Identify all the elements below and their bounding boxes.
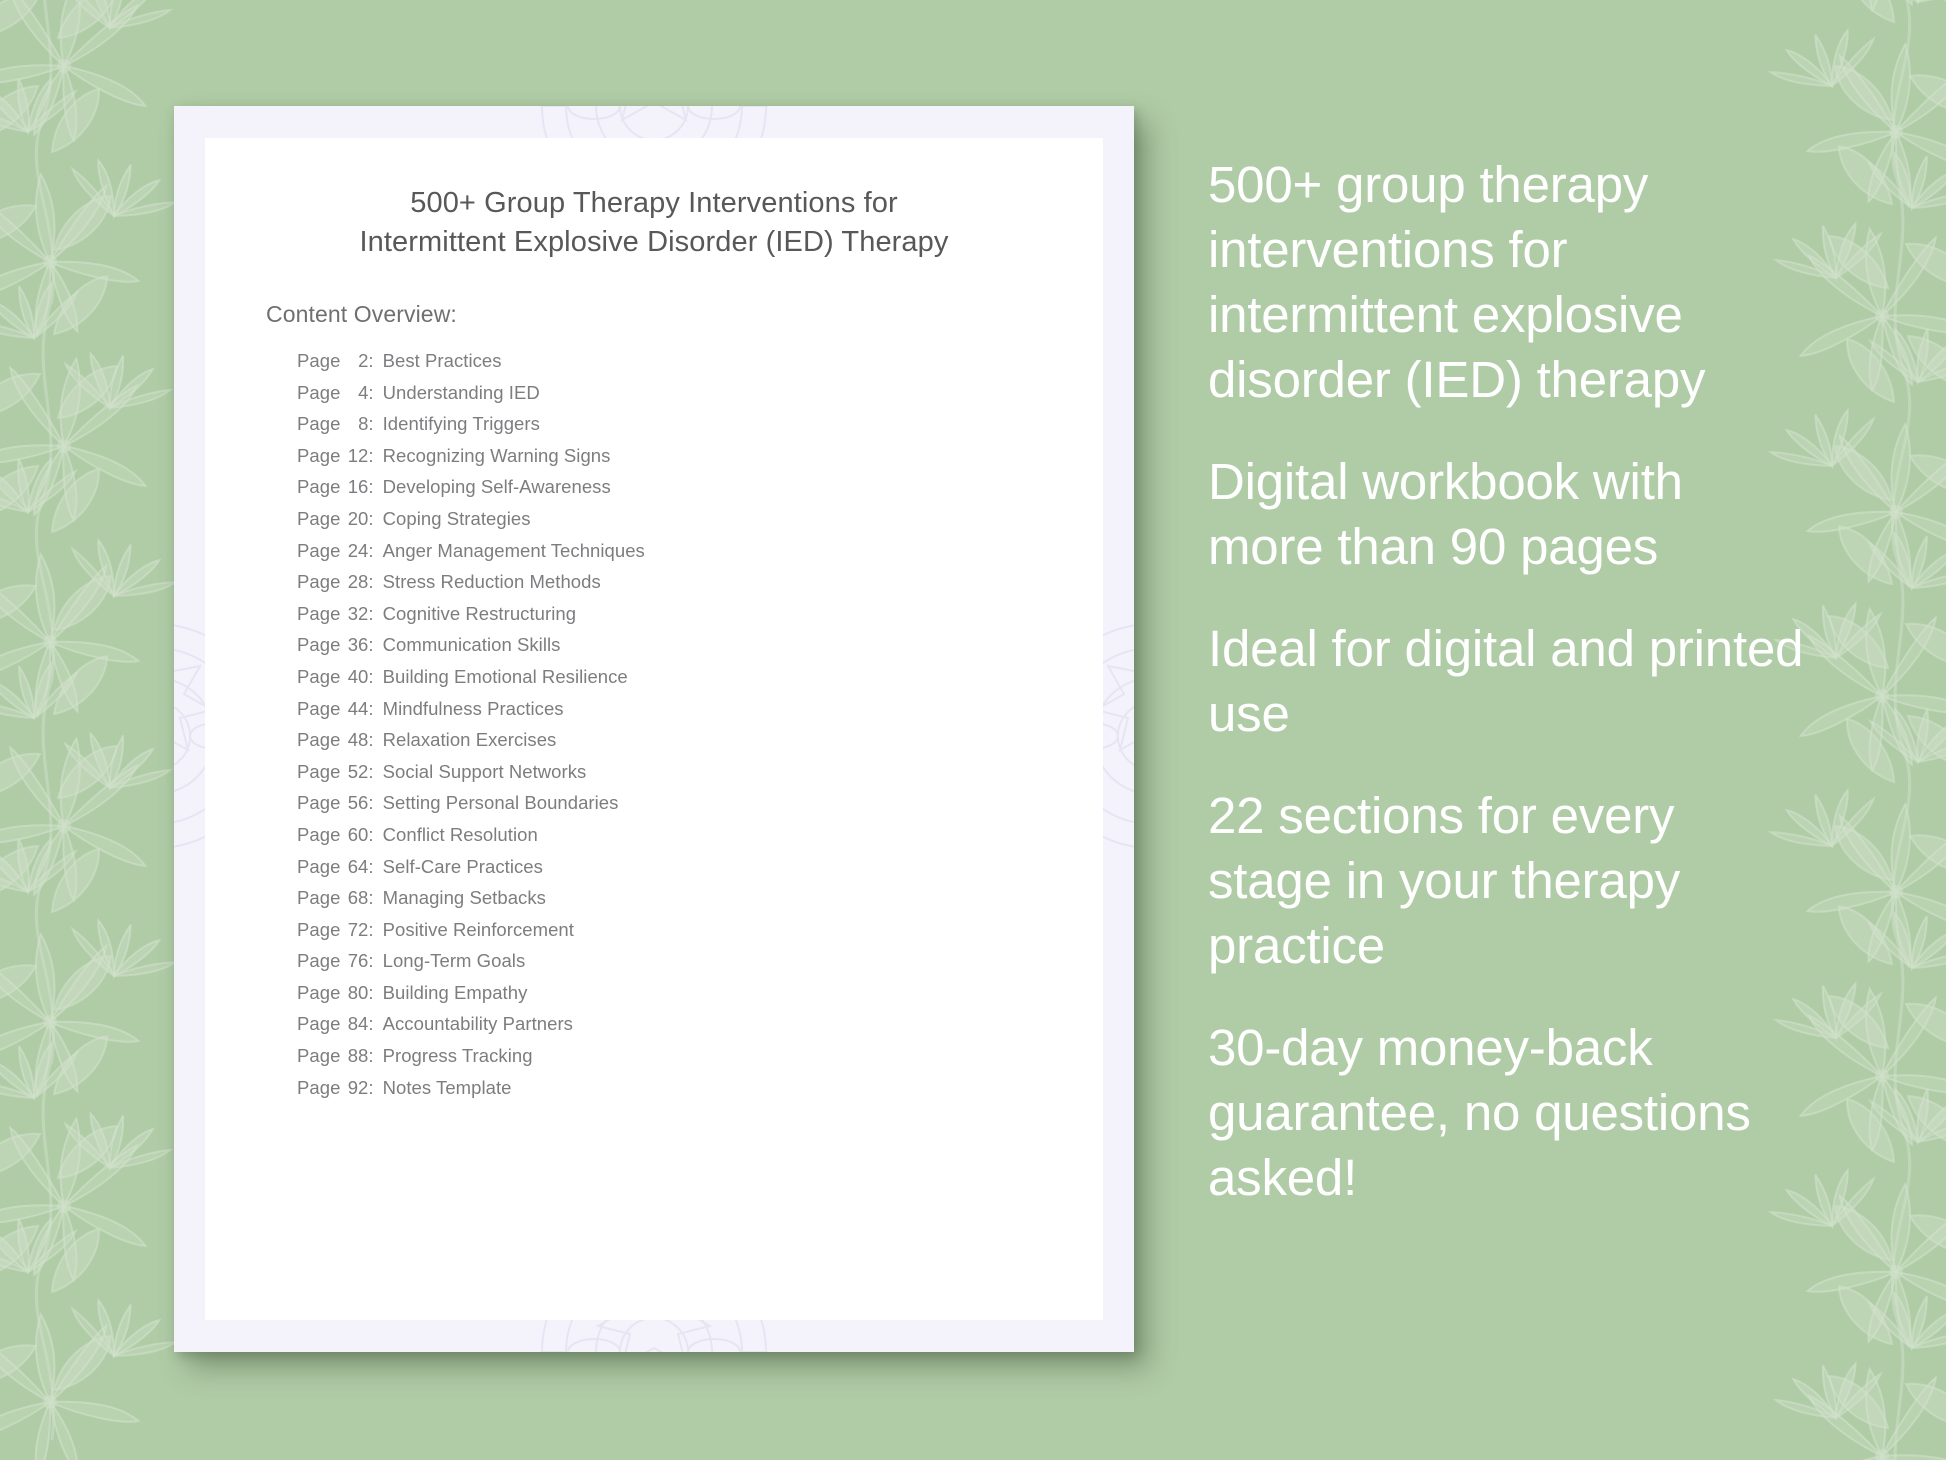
toc-page-word: Page <box>297 792 340 814</box>
workbook-page-card: 500+ Group Therapy Interventions for Int… <box>174 106 1134 1352</box>
toc-page-word: Page <box>297 982 340 1004</box>
toc-colon: : <box>368 698 373 720</box>
toc-entry[interactable]: Page 8:Identifying Triggers <box>297 413 1057 445</box>
toc-page-word: Page <box>297 729 340 751</box>
content-overview-label: Content Overview: <box>266 301 457 328</box>
toc-entry[interactable]: Page 48:Relaxation Exercises <box>297 729 1057 761</box>
marketing-point: 500+ group therapy interventions for int… <box>1208 152 1808 412</box>
toc-page-word: Page <box>297 382 340 404</box>
toc-entry[interactable]: Page 4:Understanding IED <box>297 382 1057 414</box>
toc-page-word: Page <box>297 1045 340 1067</box>
toc-section-title: Identifying Triggers <box>383 413 540 435</box>
toc-entry[interactable]: Page 44:Mindfulness Practices <box>297 698 1057 730</box>
toc-entry[interactable]: Page 36:Communication Skills <box>297 634 1057 666</box>
toc-page-word: Page <box>297 856 340 878</box>
toc-section-title: Progress Tracking <box>383 1045 533 1067</box>
toc-colon: : <box>368 982 373 1004</box>
toc-page-number: 60 <box>340 824 368 846</box>
toc-entry[interactable]: Page 16:Developing Self-Awareness <box>297 476 1057 508</box>
toc-colon: : <box>368 792 373 814</box>
toc-page-number: 72 <box>340 919 368 941</box>
toc-colon: : <box>368 350 373 372</box>
toc-page-word: Page <box>297 476 340 498</box>
toc-colon: : <box>368 824 373 846</box>
toc-page-word: Page <box>297 540 340 562</box>
toc-page-number: 2 <box>340 350 368 372</box>
toc-section-title: Understanding IED <box>383 382 540 404</box>
toc-section-title: Anger Management Techniques <box>383 540 645 562</box>
toc-section-title: Relaxation Exercises <box>383 729 557 751</box>
toc-page-number: 16 <box>340 476 368 498</box>
toc-colon: : <box>368 508 373 530</box>
toc-colon: : <box>368 382 373 404</box>
marketing-point: 30-day money-back guarantee, no question… <box>1208 1015 1808 1210</box>
toc-page-number: 12 <box>340 445 368 467</box>
toc-entry[interactable]: Page 2:Best Practices <box>297 350 1057 382</box>
toc-colon: : <box>368 445 373 467</box>
toc-entry[interactable]: Page 76:Long-Term Goals <box>297 950 1057 982</box>
toc-entry[interactable]: Page 68:Managing Setbacks <box>297 887 1057 919</box>
toc-page-word: Page <box>297 950 340 972</box>
toc-entry[interactable]: Page 64:Self-Care Practices <box>297 856 1057 888</box>
toc-section-title: Accountability Partners <box>383 1013 573 1035</box>
toc-entry[interactable]: Page 72:Positive Reinforcement <box>297 919 1057 951</box>
toc-colon: : <box>368 856 373 878</box>
toc-page-number: 52 <box>340 761 368 783</box>
toc-colon: : <box>368 729 373 751</box>
toc-page-number: 48 <box>340 729 368 751</box>
toc-colon: : <box>368 634 373 656</box>
toc-page-word: Page <box>297 634 340 656</box>
toc-page-number: 84 <box>340 1013 368 1035</box>
toc-section-title: Setting Personal Boundaries <box>383 792 619 814</box>
toc-section-title: Best Practices <box>383 350 502 372</box>
toc-section-title: Notes Template <box>383 1077 512 1099</box>
toc-colon: : <box>368 1013 373 1035</box>
toc-entry[interactable]: Page 28:Stress Reduction Methods <box>297 571 1057 603</box>
toc-page-number: 28 <box>340 571 368 593</box>
marketing-point: Digital workbook with more than 90 pages <box>1208 449 1808 579</box>
workbook-sheet: 500+ Group Therapy Interventions for Int… <box>205 138 1103 1320</box>
toc-page-number: 32 <box>340 603 368 625</box>
toc-page-number: 4 <box>340 382 368 404</box>
toc-section-title: Stress Reduction Methods <box>383 571 601 593</box>
toc-page-number: 44 <box>340 698 368 720</box>
toc-section-title: Mindfulness Practices <box>383 698 564 720</box>
toc-section-title: Managing Setbacks <box>383 887 546 909</box>
toc-section-title: Self-Care Practices <box>383 856 543 878</box>
toc-colon: : <box>368 1077 373 1099</box>
marketing-point: 22 sections for every stage in your ther… <box>1208 783 1808 978</box>
toc-page-number: 64 <box>340 856 368 878</box>
slide-canvas: 500+ Group Therapy Interventions for Int… <box>0 0 1946 1460</box>
toc-page-word: Page <box>297 508 340 530</box>
toc-page-word: Page <box>297 824 340 846</box>
toc-entry[interactable]: Page 92:Notes Template <box>297 1077 1057 1109</box>
marketing-point: Ideal for digital and printed use <box>1208 616 1808 746</box>
toc-page-word: Page <box>297 603 340 625</box>
toc-section-title: Social Support Networks <box>383 761 587 783</box>
toc-section-title: Recognizing Warning Signs <box>383 445 611 467</box>
toc-section-title: Building Emotional Resilience <box>383 666 628 688</box>
toc-entry[interactable]: Page 24:Anger Management Techniques <box>297 540 1057 572</box>
toc-page-word: Page <box>297 350 340 372</box>
toc-entry[interactable]: Page 40:Building Emotional Resilience <box>297 666 1057 698</box>
toc-page-word: Page <box>297 413 340 435</box>
toc-page-number: 56 <box>340 792 368 814</box>
toc-section-title: Communication Skills <box>383 634 561 656</box>
toc-page-word: Page <box>297 887 340 909</box>
toc-entry[interactable]: Page 12:Recognizing Warning Signs <box>297 445 1057 477</box>
page-title-line-1: 500+ Group Therapy Interventions for <box>251 184 1057 223</box>
toc-colon: : <box>368 571 373 593</box>
toc-colon: : <box>368 540 373 562</box>
toc-page-number: 24 <box>340 540 368 562</box>
toc-colon: : <box>368 603 373 625</box>
toc-colon: : <box>368 919 373 941</box>
toc-colon: : <box>368 413 373 435</box>
page-title-line-2: Intermittent Explosive Disorder (IED) Th… <box>251 223 1057 262</box>
toc-page-word: Page <box>297 1077 340 1099</box>
toc-entry[interactable]: Page 52:Social Support Networks <box>297 761 1057 793</box>
toc-page-number: 8 <box>340 413 368 435</box>
toc-page-number: 36 <box>340 634 368 656</box>
toc-page-number: 92 <box>340 1077 368 1099</box>
toc-entry[interactable]: Page 32:Cognitive Restructuring <box>297 603 1057 635</box>
toc-page-number: 88 <box>340 1045 368 1067</box>
toc-section-title: Long-Term Goals <box>383 950 526 972</box>
toc-page-word: Page <box>297 761 340 783</box>
table-of-contents: Page 2:Best PracticesPage 4:Understandin… <box>297 350 1057 1108</box>
toc-entry[interactable]: Page 20:Coping Strategies <box>297 508 1057 540</box>
toc-page-word: Page <box>297 666 340 688</box>
toc-page-word: Page <box>297 445 340 467</box>
toc-section-title: Conflict Resolution <box>383 824 538 846</box>
toc-entry[interactable]: Page 56:Setting Personal Boundaries <box>297 792 1057 824</box>
toc-page-number: 20 <box>340 508 368 530</box>
toc-page-number: 68 <box>340 887 368 909</box>
toc-entry[interactable]: Page 88:Progress Tracking <box>297 1045 1057 1077</box>
toc-page-number: 76 <box>340 950 368 972</box>
toc-colon: : <box>368 761 373 783</box>
toc-entry[interactable]: Page 84:Accountability Partners <box>297 1013 1057 1045</box>
toc-section-title: Building Empathy <box>383 982 528 1004</box>
toc-section-title: Coping Strategies <box>383 508 531 530</box>
marketing-points-list: 500+ group therapy interventions for int… <box>1208 152 1808 1210</box>
toc-entry[interactable]: Page 80:Building Empathy <box>297 982 1057 1014</box>
toc-colon: : <box>368 666 373 688</box>
toc-entry[interactable]: Page 60:Conflict Resolution <box>297 824 1057 856</box>
toc-colon: : <box>368 1045 373 1067</box>
toc-section-title: Cognitive Restructuring <box>383 603 576 625</box>
toc-section-title: Positive Reinforcement <box>383 919 574 941</box>
toc-page-number: 40 <box>340 666 368 688</box>
toc-colon: : <box>368 950 373 972</box>
toc-page-word: Page <box>297 1013 340 1035</box>
toc-colon: : <box>368 887 373 909</box>
toc-page-word: Page <box>297 571 340 593</box>
toc-page-number: 80 <box>340 982 368 1004</box>
toc-section-title: Developing Self-Awareness <box>383 476 611 498</box>
page-title: 500+ Group Therapy Interventions for Int… <box>205 184 1103 262</box>
toc-colon: : <box>368 476 373 498</box>
toc-page-word: Page <box>297 698 340 720</box>
toc-page-word: Page <box>297 919 340 941</box>
